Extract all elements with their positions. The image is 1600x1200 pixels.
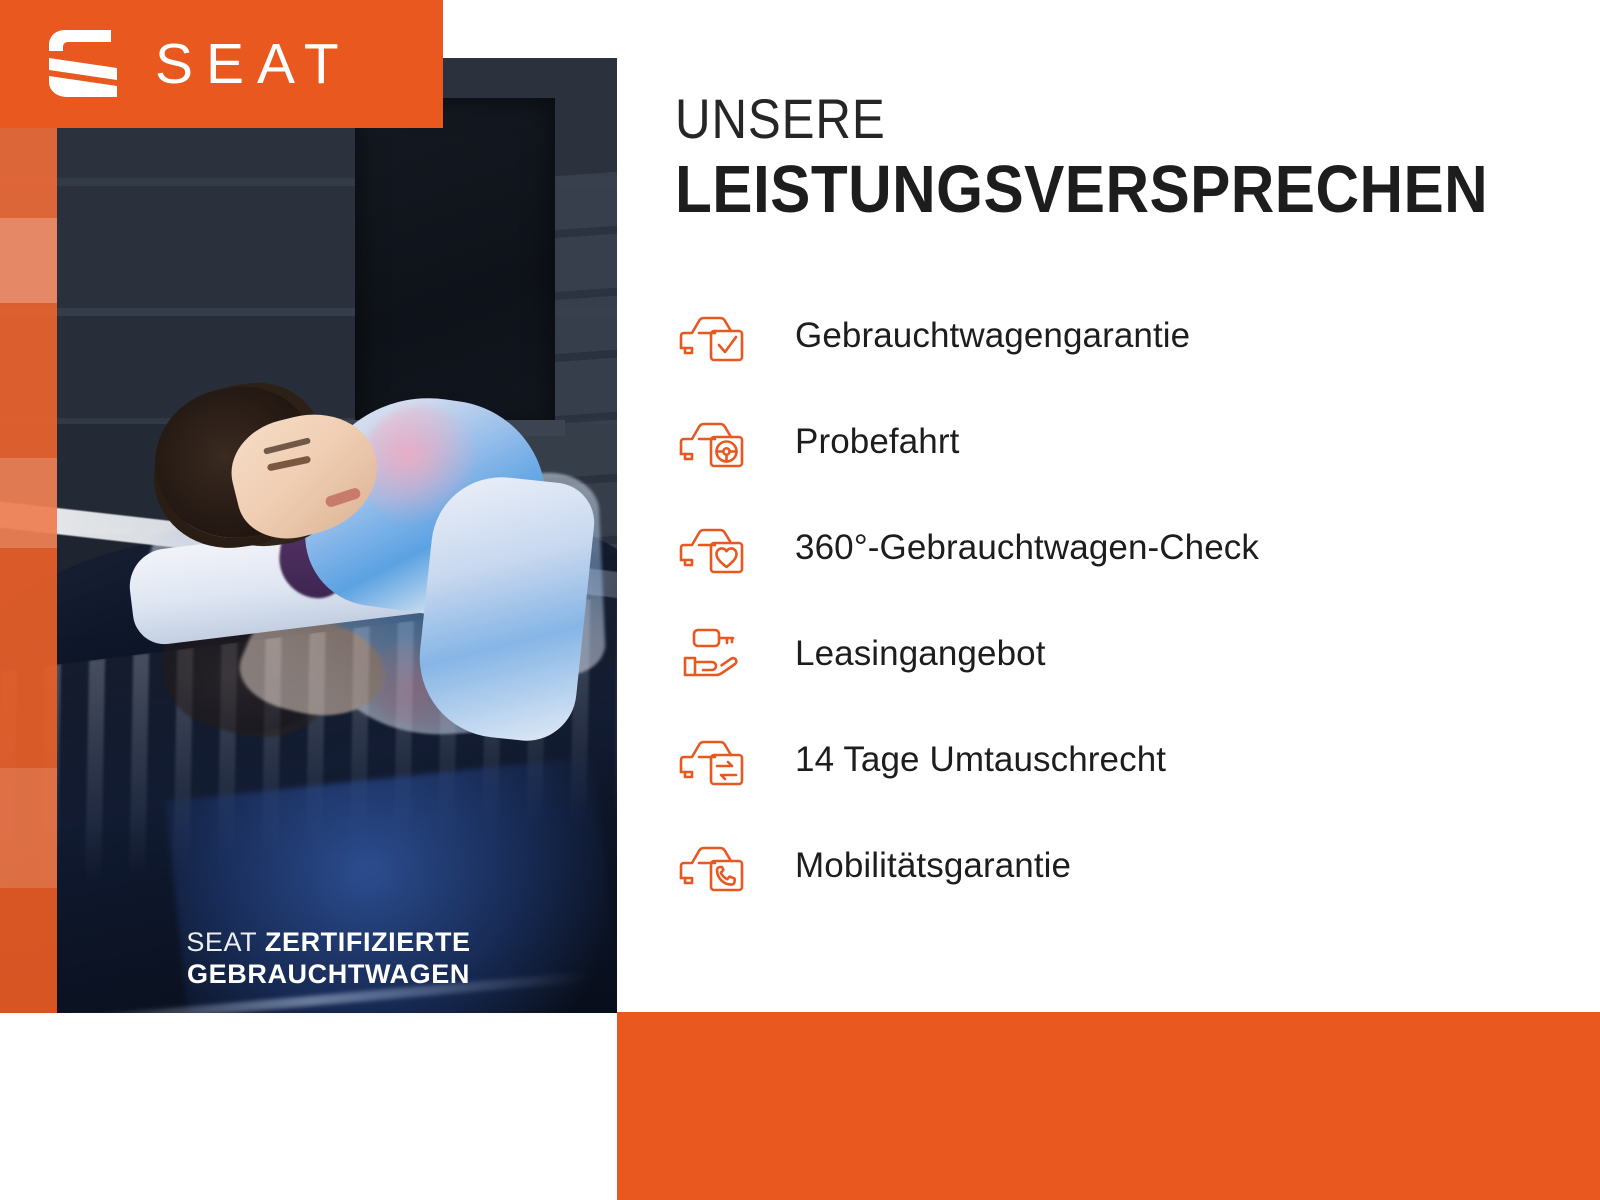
seat-wordmark: SEAT bbox=[155, 36, 352, 93]
promise-label: Gebrauchtwagengarantie bbox=[795, 316, 1190, 356]
brand-logo-bar: SEAT bbox=[0, 0, 443, 128]
bottom-orange-band bbox=[617, 1012, 1600, 1200]
promise-label: Probefahrt bbox=[795, 422, 959, 462]
person-on-car bbox=[95, 358, 565, 758]
caption-first-line: SEAT ZERTIFIZIERTE bbox=[40, 927, 617, 959]
promise-item: Mobilitätsgarantie bbox=[675, 822, 1560, 910]
promise-list: Gebrauchtwagengarantie Pro bbox=[675, 292, 1560, 910]
car-exchange-arrows-icon bbox=[675, 728, 753, 792]
promise-label: 360°-Gebrauchtwagen-Check bbox=[795, 528, 1259, 568]
hero-photo: SEAT ZERTIFIZIERTE GEBRAUCHTWAGEN bbox=[0, 58, 617, 1013]
promise-label: 14 Tage Umtauschrecht bbox=[795, 740, 1166, 780]
caption-brand: SEAT bbox=[186, 927, 256, 957]
car-warranty-check-icon bbox=[675, 304, 753, 368]
caption-bold-1: ZERTIFIZIERTE bbox=[265, 927, 471, 957]
promise-item: Gebrauchtwagengarantie bbox=[675, 292, 1560, 380]
car-phone-support-icon bbox=[675, 834, 753, 898]
car-heart-check-icon bbox=[675, 516, 753, 580]
seat-s-logo-icon bbox=[45, 28, 121, 100]
car-steering-wheel-icon bbox=[675, 410, 753, 474]
promise-item: 360°-Gebrauchtwagen-Check bbox=[675, 504, 1560, 592]
person-head bbox=[155, 388, 365, 563]
promise-item: Leasingangebot bbox=[675, 610, 1560, 698]
headline-line-2: LEISTUNGSVERSPRECHEN bbox=[675, 153, 1472, 227]
hand-holding-car-key-icon bbox=[675, 622, 753, 686]
photo-caption: SEAT ZERTIFIZIERTE GEBRAUCHTWAGEN bbox=[0, 927, 617, 991]
orange-accent-strip bbox=[0, 128, 57, 1013]
headline-line-1: UNSERE bbox=[675, 90, 1454, 149]
content-panel: UNSERE LEISTUNGSVERSPRECHEN Gebrauchtwag… bbox=[617, 0, 1600, 1012]
promise-label: Mobilitätsgarantie bbox=[795, 846, 1071, 886]
seat-promise-poster: SEAT ZERTIFIZIERTE GEBRAUCHTWAGEN SEAT bbox=[0, 0, 1600, 1200]
promise-label: Leasingangebot bbox=[795, 634, 1046, 674]
promise-item: 14 Tage Umtauschrecht bbox=[675, 716, 1560, 804]
person-torso bbox=[412, 470, 598, 745]
caption-bold-2: GEBRAUCHTWAGEN bbox=[40, 959, 617, 991]
promise-item: Probefahrt bbox=[675, 398, 1560, 486]
